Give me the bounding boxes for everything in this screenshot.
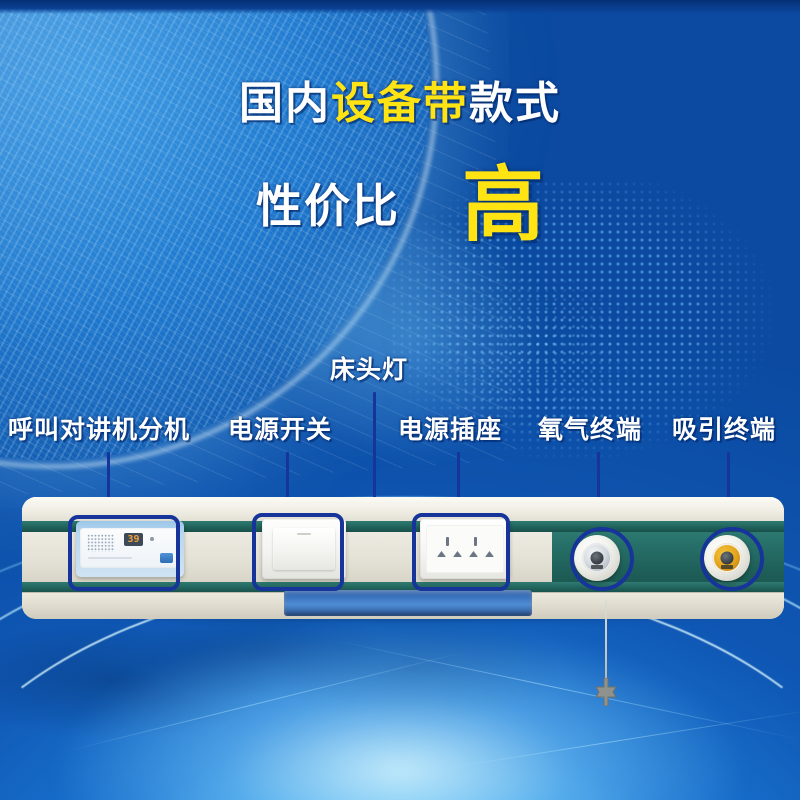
callout-label-intercom: 呼叫对讲机分机 (8, 418, 190, 443)
callout-label-power-socket: 电源插座 (398, 418, 502, 443)
callout-label-power-switch: 电源开关 (228, 418, 332, 443)
callout-label-suction: 吸引终端 (672, 418, 776, 443)
page-title: 国内设备带款式 (0, 82, 800, 126)
suction-hose-cord (605, 600, 607, 688)
highlight-circle-suction (700, 527, 764, 591)
suction-connector-icon (591, 678, 621, 706)
headline-part1: 国内 (239, 79, 331, 128)
callout-label-bedside-lamp: 床头灯 (330, 358, 408, 383)
subtitle-text: 性价比 (256, 180, 400, 232)
top-vignette (0, 0, 800, 14)
highlight-box-power-switch (252, 513, 344, 591)
poster-canvas: 国内设备带款式 性价比高 呼叫对讲机分机 电源开关 床头灯 电源插座 氧气终端 … (0, 0, 800, 800)
subtitle-emphasis: 高 (462, 160, 544, 251)
highlight-box-power-socket (412, 513, 510, 591)
callout-label-oxygen: 氧气终端 (538, 418, 642, 443)
highlight-box-intercom (68, 515, 180, 591)
subtitle: 性价比高 (0, 165, 800, 247)
headline-highlight: 设备带 (331, 79, 469, 128)
headline-part2: 款式 (469, 79, 561, 128)
highlight-circle-oxygen (570, 527, 634, 591)
bedside-lamp[interactable] (284, 590, 532, 616)
